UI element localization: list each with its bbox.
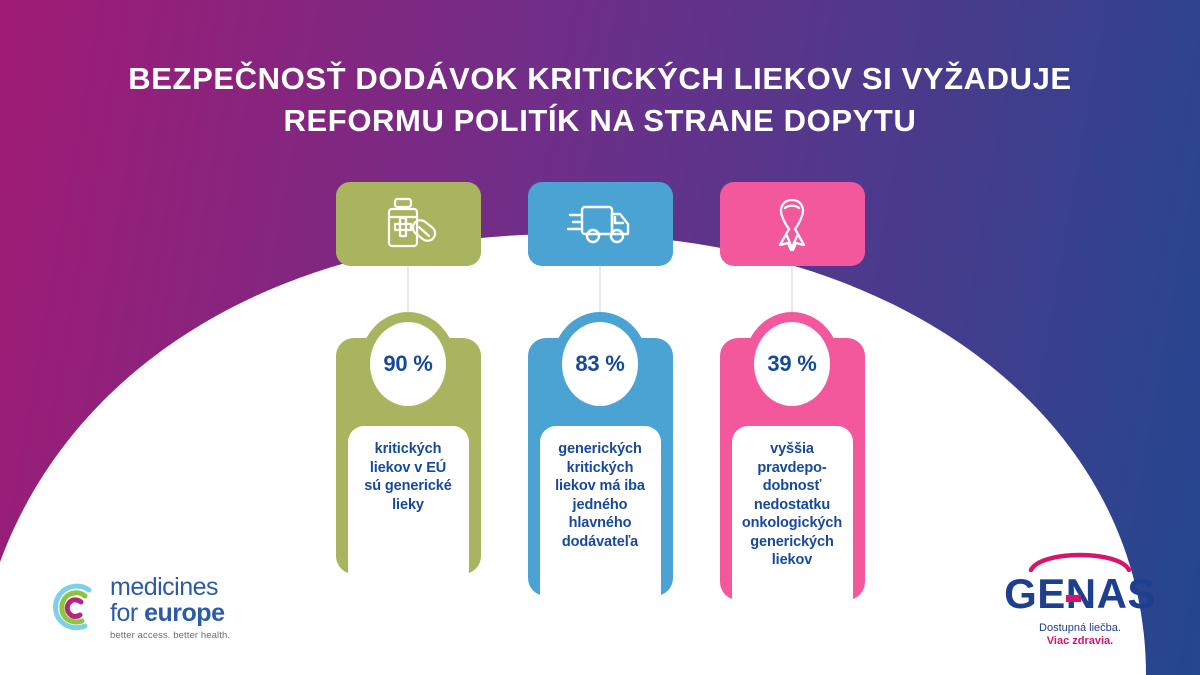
card-body: vyššia pravdepo- dobnosť nedostatku onko…: [732, 426, 853, 624]
genas-tagline-1: Dostupná liečba.: [994, 622, 1166, 634]
genas-text: GENAS: [1004, 570, 1156, 617]
title-line-1: BEZPEČNOSŤ DODÁVOK KRITICKÝCH LIEKOV SI …: [90, 58, 1110, 100]
medicines-for-europe-logo[interactable]: medicines for europe better access. bett…: [48, 575, 230, 641]
mfe-tagline: better access. better health.: [110, 631, 230, 641]
awareness-ribbon-icon: [767, 195, 817, 253]
mfe-europe: europe: [144, 599, 224, 627]
card-body: generických kritických liekov má iba jed…: [540, 426, 661, 614]
stat-card-medicines[interactable]: 90 % kritických liekov v EÚ sú generické…: [336, 182, 481, 266]
icon-chip-medicines: [336, 182, 481, 266]
mfe-swirl-icon: [48, 581, 100, 633]
percent-badge: 39 %: [744, 312, 840, 416]
percent-value: 83 %: [575, 351, 624, 377]
genas-arc-icon: [1028, 546, 1132, 572]
mfe-line-2: for europe: [110, 601, 230, 626]
card-body-text: kritických liekov v EÚ sú generické liek…: [364, 440, 451, 514]
genas-logo[interactable]: GENAS Dostupná liečba. Viac zdravia.: [994, 546, 1166, 647]
icon-chip-delivery: [528, 182, 673, 266]
infographic-canvas: BEZPEČNOSŤ DODÁVOK KRITICKÝCH LIEKOV SI …: [0, 0, 1200, 675]
percent-value: 90 %: [383, 351, 432, 377]
percent-badge: 90 %: [360, 312, 456, 416]
genas-tagline-2: Viac zdravia.: [994, 635, 1166, 647]
delivery-truck-icon: [567, 198, 633, 250]
icon-chip-ribbon: [720, 182, 865, 266]
stat-card-supplier[interactable]: 83 % generických kritických liekov má ib…: [528, 182, 673, 266]
stat-card-oncology[interactable]: 39 % vyššia pravdepo- dobnosť nedostatku…: [720, 182, 865, 266]
percent-value: 39 %: [767, 351, 816, 377]
card-body-text: vyššia pravdepo- dobnosť nedostatku onko…: [742, 440, 842, 570]
medicine-bottle-pill-icon: [376, 195, 440, 253]
mfe-line-1: medicines: [110, 575, 230, 600]
percent-badge: 83 %: [552, 312, 648, 416]
title-line-2: REFORMU POLITÍK NA STRANE DOPYTU: [90, 100, 1110, 142]
stat-card-row: 90 % kritických liekov v EÚ sú generické…: [0, 182, 1200, 266]
card-body-text: generických kritických liekov má iba jed…: [555, 440, 645, 551]
genas-accent-bar: [1066, 595, 1081, 602]
genas-wordmark: GENAS: [994, 573, 1166, 615]
page-title: BEZPEČNOSŤ DODÁVOK KRITICKÝCH LIEKOV SI …: [0, 58, 1200, 142]
card-body: kritických liekov v EÚ sú generické liek…: [348, 426, 469, 586]
mfe-for: for: [110, 599, 144, 627]
